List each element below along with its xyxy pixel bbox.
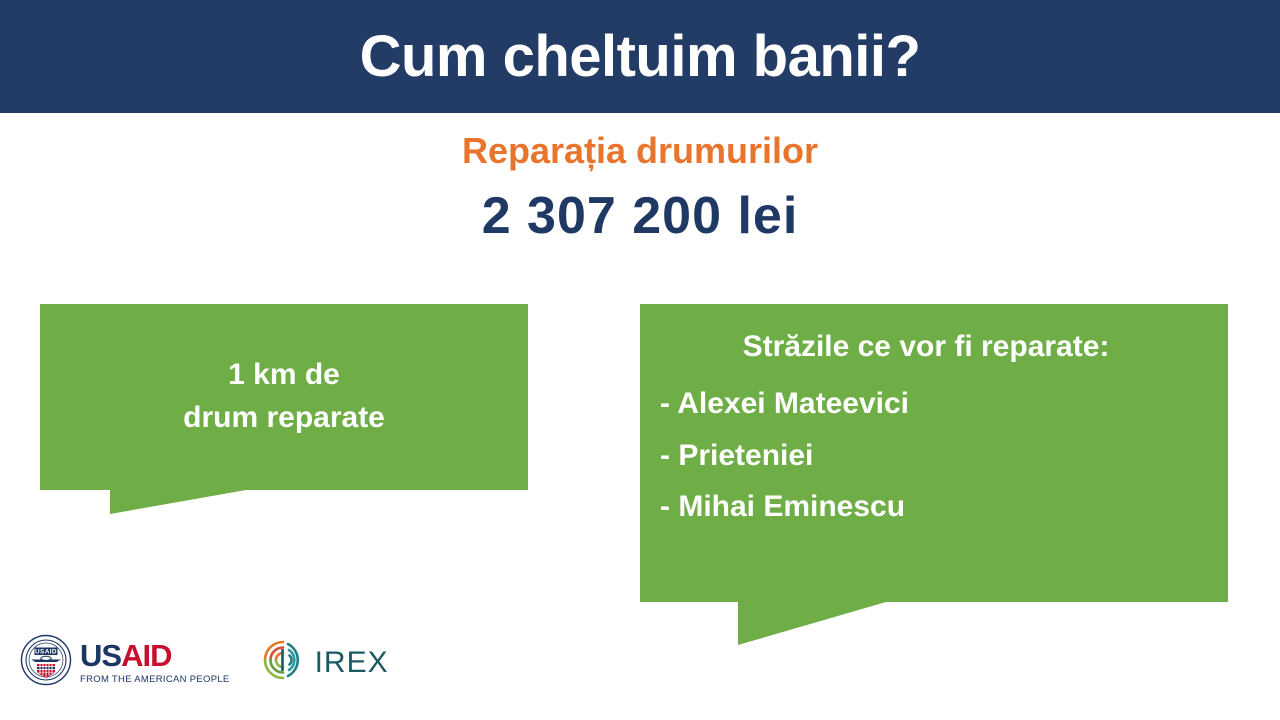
usaid-wordmark: USAID FROM THE AMERICAN PEOPLE [80,640,230,685]
callout-left-text: 1 km de drum reparate [183,354,385,439]
list-item: - Prieteniei [660,430,1212,482]
list-item: - Mihai Eminescu [660,481,1212,533]
footer-logos: USAID USAID FROM THE AMERICAN PEOPLE [20,634,389,691]
irex-wordmark: IREX [315,646,389,680]
usaid-wordmark-main: USAID [80,640,230,671]
irex-logo: IREX [258,635,389,690]
category-label: Reparația drumurilor [0,130,1280,172]
usaid-logo: USAID USAID FROM THE AMERICAN PEOPLE [20,634,230,691]
usaid-tagline: FROM THE AMERICAN PEOPLE [80,674,230,685]
usaid-word-aid: AID [121,638,171,673]
irex-arcs-icon [258,635,308,690]
usaid-word-us: US [80,638,121,673]
usaid-seal-icon: USAID [20,634,72,691]
callout-left: 1 km de drum reparate [40,304,528,490]
street-list: - Alexei Mateevici - Prieteniei - Mihai … [660,378,1212,533]
callout-right-title: Străzile ce vor fi reparate: [660,330,1212,364]
svg-text:USAID: USAID [35,648,57,655]
list-item: - Alexei Mateevici [660,378,1212,430]
callout-right-tail-icon [738,602,886,645]
page-title: Cum cheltuim banii? [0,0,1280,113]
callout-right: Străzile ce vor fi reparate: - Alexei Ma… [640,304,1228,602]
callout-left-tail-icon [110,490,246,514]
amount-value: 2 307 200 lei [0,186,1280,246]
